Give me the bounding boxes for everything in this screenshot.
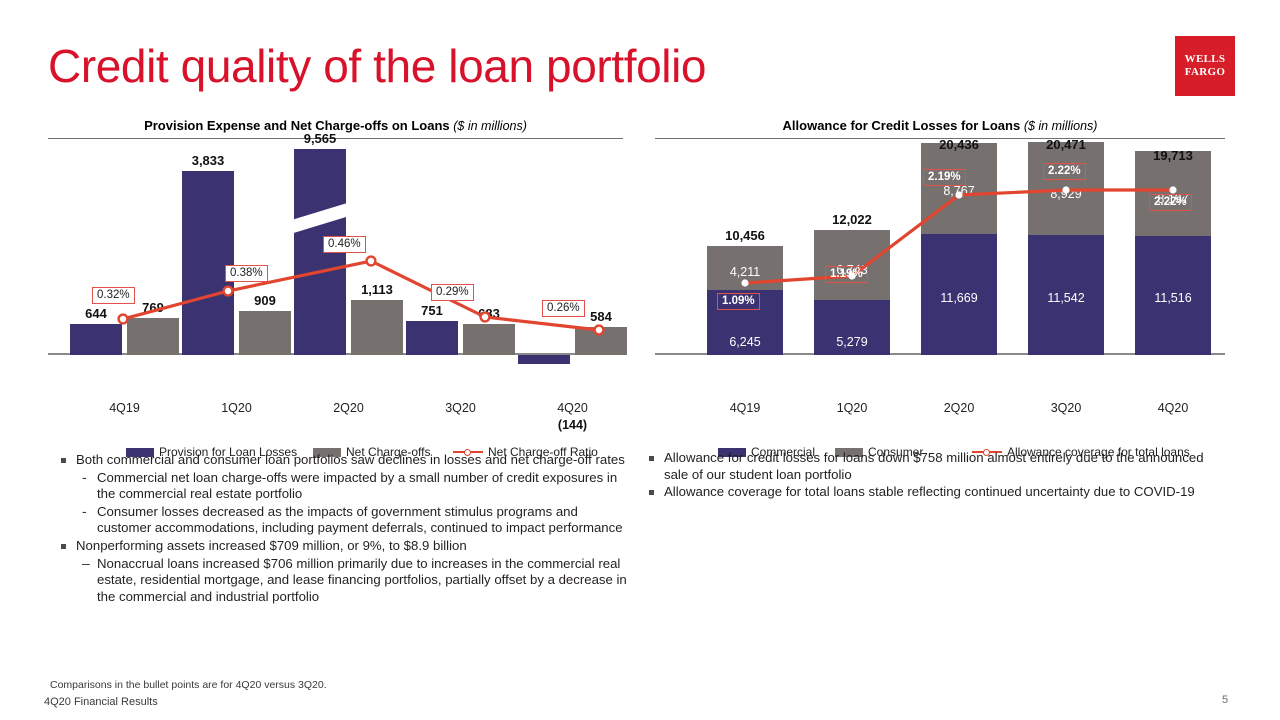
x-label-right-4Q19: 4Q19 [707, 401, 783, 415]
right-bullet-list: Allowance for credit losses for loans do… [643, 450, 1218, 502]
right-chart-title-units: ($ in millions) [1024, 119, 1098, 133]
wells-fargo-logo: WELLS FARGO [1175, 36, 1235, 96]
right-chart-title-text: Allowance for Credit Losses for Loans [783, 118, 1021, 133]
bullet-item: Commercial net loan charge-offs were imp… [55, 470, 630, 503]
ratio-label-2Q20: 0.46% [323, 236, 366, 253]
bullet-item: Nonperforming assets increased $709 mill… [55, 538, 630, 555]
ratio-label-3Q20: 0.29% [431, 284, 474, 301]
page-number: 5 [1222, 694, 1228, 706]
x-label-3Q20: 3Q20 [406, 401, 515, 415]
left-x-axis-labels: 4Q19 1Q20 2Q20 3Q20 4Q20 (144) [48, 401, 623, 421]
ratio-label-1Q20: 0.38% [225, 265, 268, 282]
x-label-right-1Q20: 1Q20 [814, 401, 890, 415]
right-x-axis-labels: 4Q19 1Q20 2Q20 3Q20 4Q20 [655, 401, 1225, 421]
logo-line-2: FARGO [1185, 66, 1225, 79]
left-bullet-list: Both commercial and consumer loan portfo… [55, 452, 630, 606]
coverage-label-4Q19: 1.09% [717, 293, 760, 310]
label-provision-4Q20-negative: (144) [518, 418, 627, 432]
x-label-4Q19: 4Q19 [70, 401, 179, 415]
right-plot-area: 10,456 4,211 6,245 12,022 6,743 5,279 20… [655, 139, 1225, 401]
coverage-label-3Q20: 2.22% [1043, 163, 1086, 180]
coverage-label-2Q20: 2.19% [923, 169, 966, 186]
bullet-item: Consumer losses decreased as the impacts… [55, 504, 630, 537]
x-label-right-2Q20: 2Q20 [921, 401, 997, 415]
x-label-2Q20: 2Q20 [294, 401, 403, 415]
left-chart-title-units: ($ in millions) [453, 119, 527, 133]
ratio-label-4Q20: 0.26% [542, 300, 585, 317]
right-chart-title: Allowance for Credit Losses for Loans ($… [655, 118, 1225, 138]
x-label-4Q20: 4Q20 [518, 401, 627, 415]
bullet-item: Nonaccrual loans increased $706 million … [55, 556, 630, 606]
x-label-1Q20: 1Q20 [182, 401, 291, 415]
bullet-item: Allowance for credit losses for loans do… [643, 450, 1218, 483]
footer-note: Comparisons in the bullet points are for… [50, 679, 327, 691]
logo-line-1: WELLS [1185, 53, 1226, 66]
footer-deck-title: 4Q20 Financial Results [44, 696, 158, 708]
coverage-label-1Q20: 1.19% [825, 266, 868, 283]
left-chart-panel: Provision Expense and Net Charge-offs on… [48, 118, 623, 467]
x-label-right-3Q20: 3Q20 [1028, 401, 1104, 415]
net-chargeoff-ratio-line [48, 139, 623, 401]
slide: Credit quality of the loan portfolio WEL… [0, 0, 1280, 720]
page-title: Credit quality of the loan portfolio [48, 38, 706, 94]
x-label-right-4Q20: 4Q20 [1135, 401, 1211, 415]
bullet-item: Allowance coverage for total loans stabl… [643, 484, 1218, 501]
coverage-label-4Q20: 2.22% [1149, 194, 1192, 211]
right-chart-panel: Allowance for Credit Losses for Loans ($… [655, 118, 1225, 467]
bullet-item: Both commercial and consumer loan portfo… [55, 452, 630, 469]
left-plot-area: 644 769 3,833 909 9,565 1,113 751 683 58… [48, 139, 623, 401]
ratio-label-4Q19: 0.32% [92, 287, 135, 304]
